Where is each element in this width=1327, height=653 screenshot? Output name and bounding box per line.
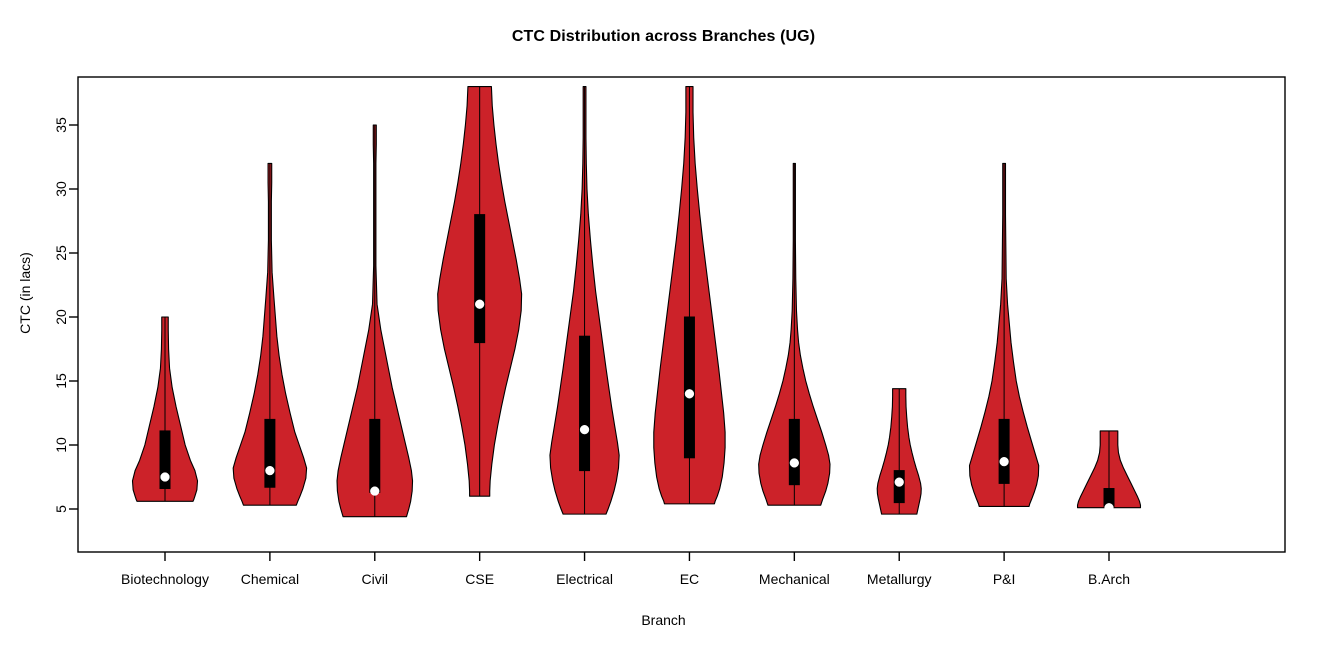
x-axis-tick-label: Mechanical [759, 571, 830, 587]
violin-plot-canvas: 5101520253035 BiotechnologyChemicalCivil… [0, 0, 1327, 653]
x-axis-tick-label: Chemical [241, 571, 299, 587]
x-axis: BiotechnologyChemicalCivilCSEElectricalE… [121, 552, 1130, 587]
y-axis-tick-label: 5 [53, 505, 69, 513]
violin-iqr-box [789, 419, 799, 484]
y-axis-tick-label: 10 [53, 437, 69, 453]
violin-median-dot [685, 389, 694, 398]
violin-iqr-box [999, 419, 1009, 483]
violin-iqr-box [684, 317, 694, 458]
x-axis-tick-label: Electrical [556, 571, 613, 587]
violin-plot-page: CTC Distribution across Branches (UG) CT… [0, 0, 1327, 653]
y-axis-tick-label: 30 [53, 181, 69, 197]
violin-median-dot [790, 459, 799, 468]
x-axis-tick-label: P&I [993, 571, 1016, 587]
violin-median-dot [161, 473, 170, 482]
violin-median-dot [475, 300, 484, 309]
y-axis-tick-label: 35 [53, 117, 69, 133]
violin-iqr-box [580, 336, 590, 470]
y-axis-tick-label: 20 [53, 309, 69, 325]
violin-median-dot [1000, 457, 1009, 466]
x-axis-tick-label: B.Arch [1088, 571, 1130, 587]
violin-iqr-box [475, 215, 485, 343]
violin-median-dot [370, 487, 379, 496]
x-axis-tick-label: Metallurgy [867, 571, 932, 587]
x-axis-tick-label: Biotechnology [121, 571, 209, 587]
violin-median-dot [580, 425, 589, 434]
y-axis-tick-label: 25 [53, 245, 69, 261]
x-axis-tick-label: Civil [362, 571, 388, 587]
violin-median-dot [895, 478, 904, 487]
y-axis: 5101520253035 [53, 117, 78, 513]
y-axis-tick-label: 15 [53, 373, 69, 389]
violin-iqr-box [370, 419, 380, 492]
violin-median-dot [1105, 503, 1114, 512]
x-axis-tick-label: EC [680, 571, 699, 587]
violin-median-dot [265, 466, 274, 475]
violin-iqr-box [265, 419, 275, 487]
x-axis-tick-label: CSE [465, 571, 494, 587]
